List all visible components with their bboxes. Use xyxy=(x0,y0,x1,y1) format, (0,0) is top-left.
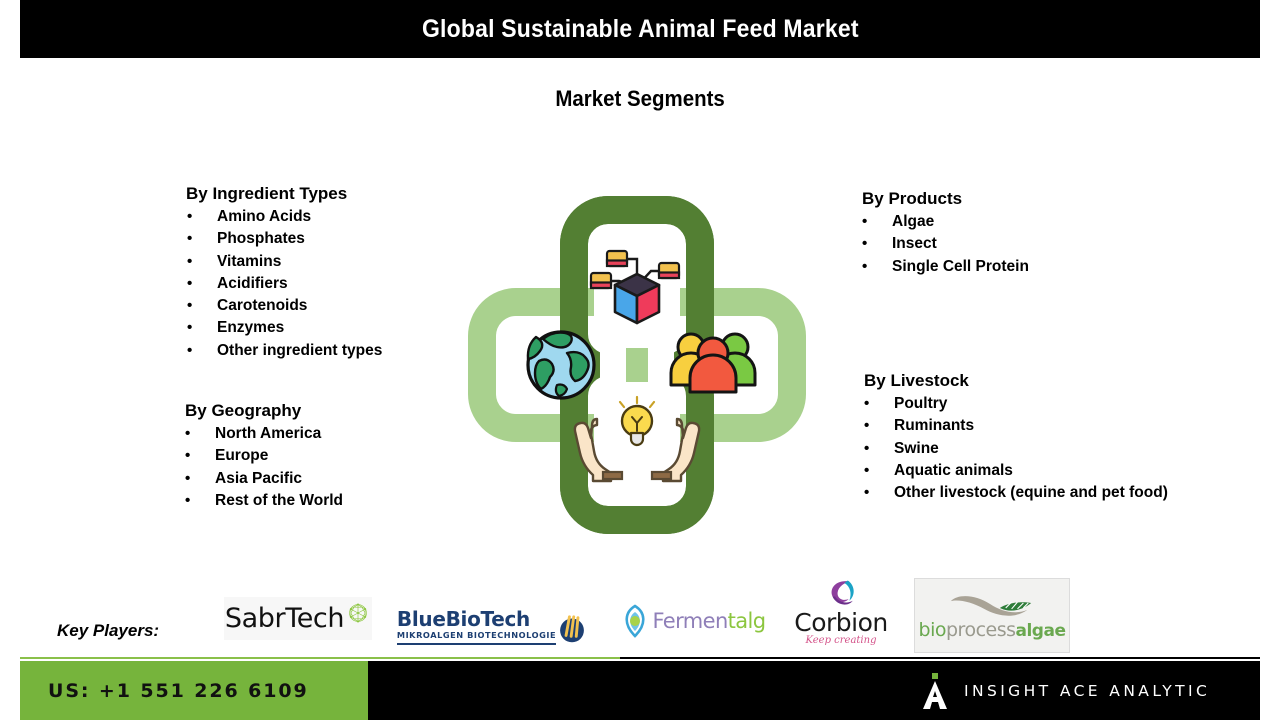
list-item-label: Amino Acids xyxy=(217,206,311,228)
list-item-label: North America xyxy=(215,423,321,445)
section-subtitle: Market Segments xyxy=(0,86,1280,112)
logo-fermentalg-part1: Fermen xyxy=(652,609,727,633)
logo-corbion-text: Corbion xyxy=(794,610,888,636)
segment-title: By Ingredient Types xyxy=(186,184,382,204)
insight-ace-a-logo-icon xyxy=(920,671,950,711)
list-item-label: Insect xyxy=(892,233,937,255)
list-item-label: Phosphates xyxy=(217,228,305,250)
page-title: Global Sustainable Animal Feed Market xyxy=(422,15,859,44)
bullet-icon: • xyxy=(862,256,892,278)
list-item-label: Acidifiers xyxy=(217,273,288,295)
list-item: •Algae xyxy=(862,211,1029,233)
list-item-label: Single Cell Protein xyxy=(892,256,1029,278)
bullet-icon: • xyxy=(187,251,217,273)
list-item-label: Vitamins xyxy=(217,251,281,273)
bullet-icon: • xyxy=(187,340,217,362)
bullet-icon: • xyxy=(185,423,215,445)
logo-bio-part1: bio xyxy=(919,619,946,641)
key-players-label: Key Players: xyxy=(57,621,159,641)
divider-green xyxy=(20,657,620,659)
list-item: •Insect xyxy=(862,233,1029,255)
node-1 xyxy=(607,251,627,266)
segment-list-products: •Algae •Insect •Single Cell Protein xyxy=(862,211,1029,278)
logo-bioprocessalgae: bioprocessalgae xyxy=(914,578,1070,653)
logo-sabrtech: SabrTech xyxy=(224,597,372,640)
logo-bluebiotech: BlueBioTech MIKROALGEN BIOTECHNOLOGIE xyxy=(388,605,595,649)
segment-block-livestock: By Livestock •Poultry •Ruminants •Swine … xyxy=(864,371,1168,504)
tubes-icon xyxy=(558,610,586,644)
list-item: •Other ingredient types xyxy=(187,340,382,362)
logo-bioprocessalgae-text: bioprocessalgae xyxy=(919,619,1066,641)
bullet-icon: • xyxy=(864,393,894,415)
bullet-icon: • xyxy=(862,233,892,255)
list-item: •North America xyxy=(185,423,343,445)
molecule-icon xyxy=(345,600,371,626)
logo-fermentalg: Fermentalg xyxy=(620,598,766,643)
list-item-label: Carotenoids xyxy=(217,295,307,317)
list-item-label: Enzymes xyxy=(217,317,284,339)
globe-icon xyxy=(528,332,594,398)
segment-title: By Products xyxy=(862,189,1029,209)
list-item: •Amino Acids xyxy=(187,206,382,228)
bullet-icon: • xyxy=(864,460,894,482)
list-item-label: Rest of the World xyxy=(215,490,343,512)
brand-block: INSIGHT ACE ANALYTIC xyxy=(920,661,1210,720)
bullet-icon: • xyxy=(187,295,217,317)
segment-block-products: By Products •Algae •Insect •Single Cell … xyxy=(862,189,1029,278)
list-item: •Enzymes xyxy=(187,317,382,339)
segment-list-ingredient-types: •Amino Acids •Phosphates •Vitamins •Acid… xyxy=(187,206,382,362)
list-item-label: Poultry xyxy=(894,393,947,415)
bullet-icon: • xyxy=(864,438,894,460)
logo-bio-part2: process xyxy=(946,619,1016,641)
people-group-icon xyxy=(671,334,755,392)
list-item: •Carotenoids xyxy=(187,295,382,317)
list-item-label: Ruminants xyxy=(894,415,974,437)
list-item-label: Swine xyxy=(894,438,939,460)
list-item-label: Aquatic animals xyxy=(894,460,1013,482)
list-item: •Aquatic animals xyxy=(864,460,1168,482)
segment-list-livestock: •Poultry •Ruminants •Swine •Aquatic anim… xyxy=(864,393,1168,504)
logo-fermentalg-part2: talg xyxy=(728,609,766,633)
logo-corbion-tagline: Keep creating xyxy=(806,635,877,646)
list-item-label: Other ingredient types xyxy=(217,340,382,362)
list-item: •Swine xyxy=(864,438,1168,460)
bullet-icon: • xyxy=(187,228,217,250)
segment-title: By Geography xyxy=(185,401,343,421)
segment-block-geography: By Geography •North America •Europe •Asi… xyxy=(185,401,343,512)
node-3 xyxy=(591,273,611,288)
bullet-icon: • xyxy=(187,206,217,228)
bullet-icon: • xyxy=(864,415,894,437)
list-item: •Acidifiers xyxy=(187,273,382,295)
section-subtitle-text: Market Segments xyxy=(555,86,724,112)
list-item: •Other livestock (equine and pet food) xyxy=(864,482,1168,504)
leaf-drop-icon xyxy=(620,604,650,638)
header-bar: Global Sustainable Animal Feed Market xyxy=(20,0,1260,58)
footer-phone-block: US: +1 551 226 6109 xyxy=(20,661,368,720)
node-2 xyxy=(659,263,679,278)
interlocking-rings-diagram xyxy=(468,196,806,534)
logo-bio-part3: algae xyxy=(1016,621,1066,641)
bullet-icon: • xyxy=(185,445,215,467)
list-item: •Ruminants xyxy=(864,415,1168,437)
bullet-icon: • xyxy=(185,468,215,490)
logo-bluebiotech-text: BlueBioTech xyxy=(397,609,556,630)
logo-fermentalg-text: Fermentalg xyxy=(652,609,765,633)
divider-black xyxy=(620,657,1260,659)
bullet-icon: • xyxy=(185,490,215,512)
list-item-label: Europe xyxy=(215,445,268,467)
cube xyxy=(615,274,659,323)
segment-block-ingredient-types: By Ingredient Types •Amino Acids •Phosph… xyxy=(187,184,382,362)
list-item-label: Asia Pacific xyxy=(215,468,302,490)
swirl-icon xyxy=(822,578,860,610)
list-item: •Rest of the World xyxy=(185,490,343,512)
list-item: •Vitamins xyxy=(187,251,382,273)
list-item: •Phosphates xyxy=(187,228,382,250)
bullet-icon: • xyxy=(864,482,894,504)
bullet-icon: • xyxy=(187,273,217,295)
segment-title: By Livestock xyxy=(864,371,1168,391)
logo-corbion: Corbion Keep creating xyxy=(786,578,896,646)
algae-swoosh-icon xyxy=(943,591,1041,619)
list-item: •Single Cell Protein xyxy=(862,256,1029,278)
list-item-label: Algae xyxy=(892,211,934,233)
segment-list-geography: •North America •Europe •Asia Pacific •Re… xyxy=(185,423,343,512)
bullet-icon: • xyxy=(187,317,217,339)
bullet-icon: • xyxy=(862,211,892,233)
logo-sabrtech-text: SabrTech xyxy=(225,603,344,634)
phone-number: US: +1 551 226 6109 xyxy=(48,680,309,702)
logo-bluebiotech-tagline: MIKROALGEN BIOTECHNOLOGIE xyxy=(397,630,556,645)
list-item: •Europe xyxy=(185,445,343,467)
list-item: •Asia Pacific xyxy=(185,468,343,490)
list-item: •Poultry xyxy=(864,393,1168,415)
brand-name: INSIGHT ACE ANALYTIC xyxy=(964,682,1210,700)
list-item-label: Other livestock (equine and pet food) xyxy=(894,482,1168,504)
